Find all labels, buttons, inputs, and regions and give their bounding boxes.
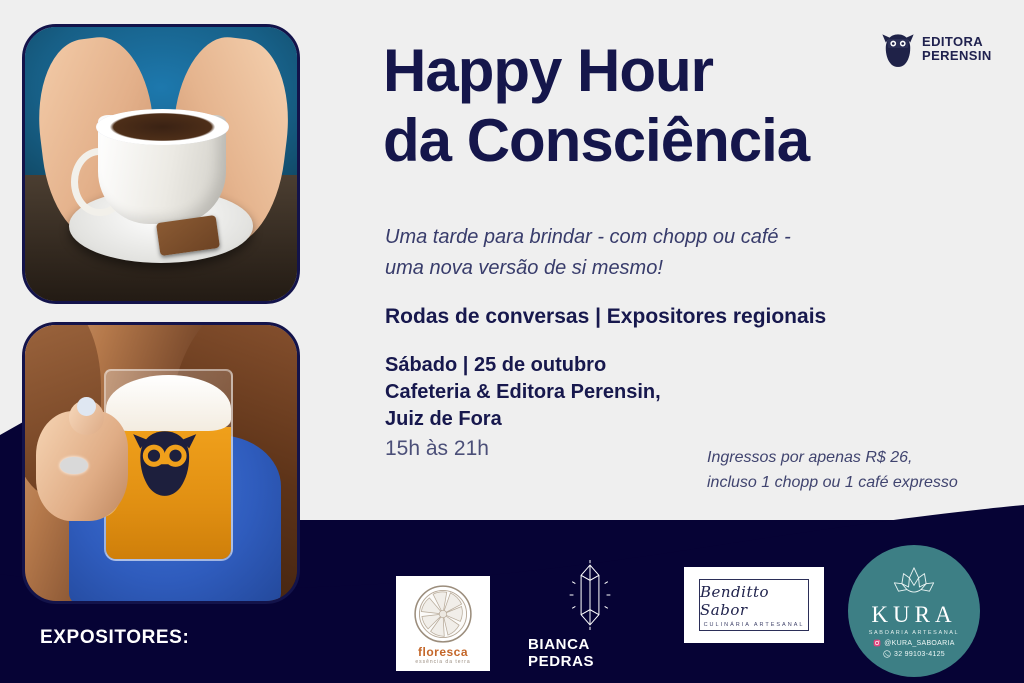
whatsapp-icon: [883, 650, 891, 658]
ticket-price-note: Ingressos por apenas R$ 26, incluso 1 ch…: [707, 445, 1007, 495]
title-line-2: da Consciência: [383, 106, 923, 176]
publisher-name-line-1: EDITORA: [922, 35, 992, 49]
publisher-logo: EDITORA PERENSIN: [881, 28, 1001, 70]
lotus-icon: [891, 564, 937, 600]
sponsor-logo-floresca: floresca essência da terra: [396, 576, 490, 671]
instagram-icon: [873, 639, 881, 647]
owl-icon: [128, 427, 201, 499]
coffee-photo: [22, 24, 300, 304]
page-title: Happy Hour da Consciência: [383, 36, 923, 176]
benditto-word: Benditto Sabor: [700, 583, 808, 619]
bianca-pedras-word: BIANCA PEDRAS: [528, 636, 652, 670]
beer-photo: [22, 322, 300, 604]
price-line-1: Ingressos por apenas R$ 26,: [707, 445, 1007, 470]
subtitle-line-1: Uma tarde para brindar - com chopp ou ca…: [385, 222, 905, 253]
kura-instagram: @KURA_SABOARIA: [873, 639, 954, 647]
citrus-slice-icon: [412, 583, 474, 645]
frame-icon: Benditto Sabor CULINÁRIA ARTESANAL: [699, 579, 809, 631]
price-line-2: incluso 1 chopp ou 1 café expresso: [707, 470, 1007, 495]
owl-icon: [881, 30, 915, 68]
kura-whatsapp: 32 99103-4125: [883, 650, 945, 658]
highlight-text: Rodas de conversas | Expositores regiona…: [385, 305, 905, 329]
publisher-name: EDITORA PERENSIN: [922, 35, 992, 63]
kura-word: KURA: [871, 602, 956, 628]
kura-tagline: SABOARIA ARTESANAL: [869, 630, 959, 636]
floresca-word: floresca: [418, 645, 468, 659]
poster-canvas: Happy Hour da Consciência Uma tarde para…: [0, 0, 1024, 683]
subtitle-line-2: uma nova versão de si mesmo!: [385, 253, 905, 284]
event-date: Sábado | 25 de outubro: [385, 352, 805, 379]
benditto-tagline: CULINÁRIA ARTESANAL: [704, 622, 805, 628]
event-venue: Cafeteria & Editora Perensin,: [385, 379, 805, 406]
title-line-1: Happy Hour: [383, 36, 923, 106]
floresca-tagline: essência da terra: [415, 659, 470, 665]
sponsor-logo-kura: KURA SABOARIA ARTESANAL @KURA_SABOARIA 3…: [848, 545, 980, 677]
sponsor-logo-bianca-pedras: BIANCA PEDRAS: [528, 560, 652, 670]
kura-whatsapp-number: 32 99103-4125: [894, 651, 945, 658]
publisher-name-line-2: PERENSIN: [922, 49, 992, 63]
sponsor-logo-benditto-sabor: Benditto Sabor CULINÁRIA ARTESANAL: [684, 567, 824, 643]
event-city: Juiz de Fora: [385, 406, 805, 433]
expositores-label: EXPOSITORES:: [40, 627, 189, 649]
kura-instagram-handle: @KURA_SABOARIA: [884, 640, 954, 647]
subtitle: Uma tarde para brindar - com chopp ou ca…: [385, 222, 905, 284]
crystal-icon: [557, 560, 623, 630]
